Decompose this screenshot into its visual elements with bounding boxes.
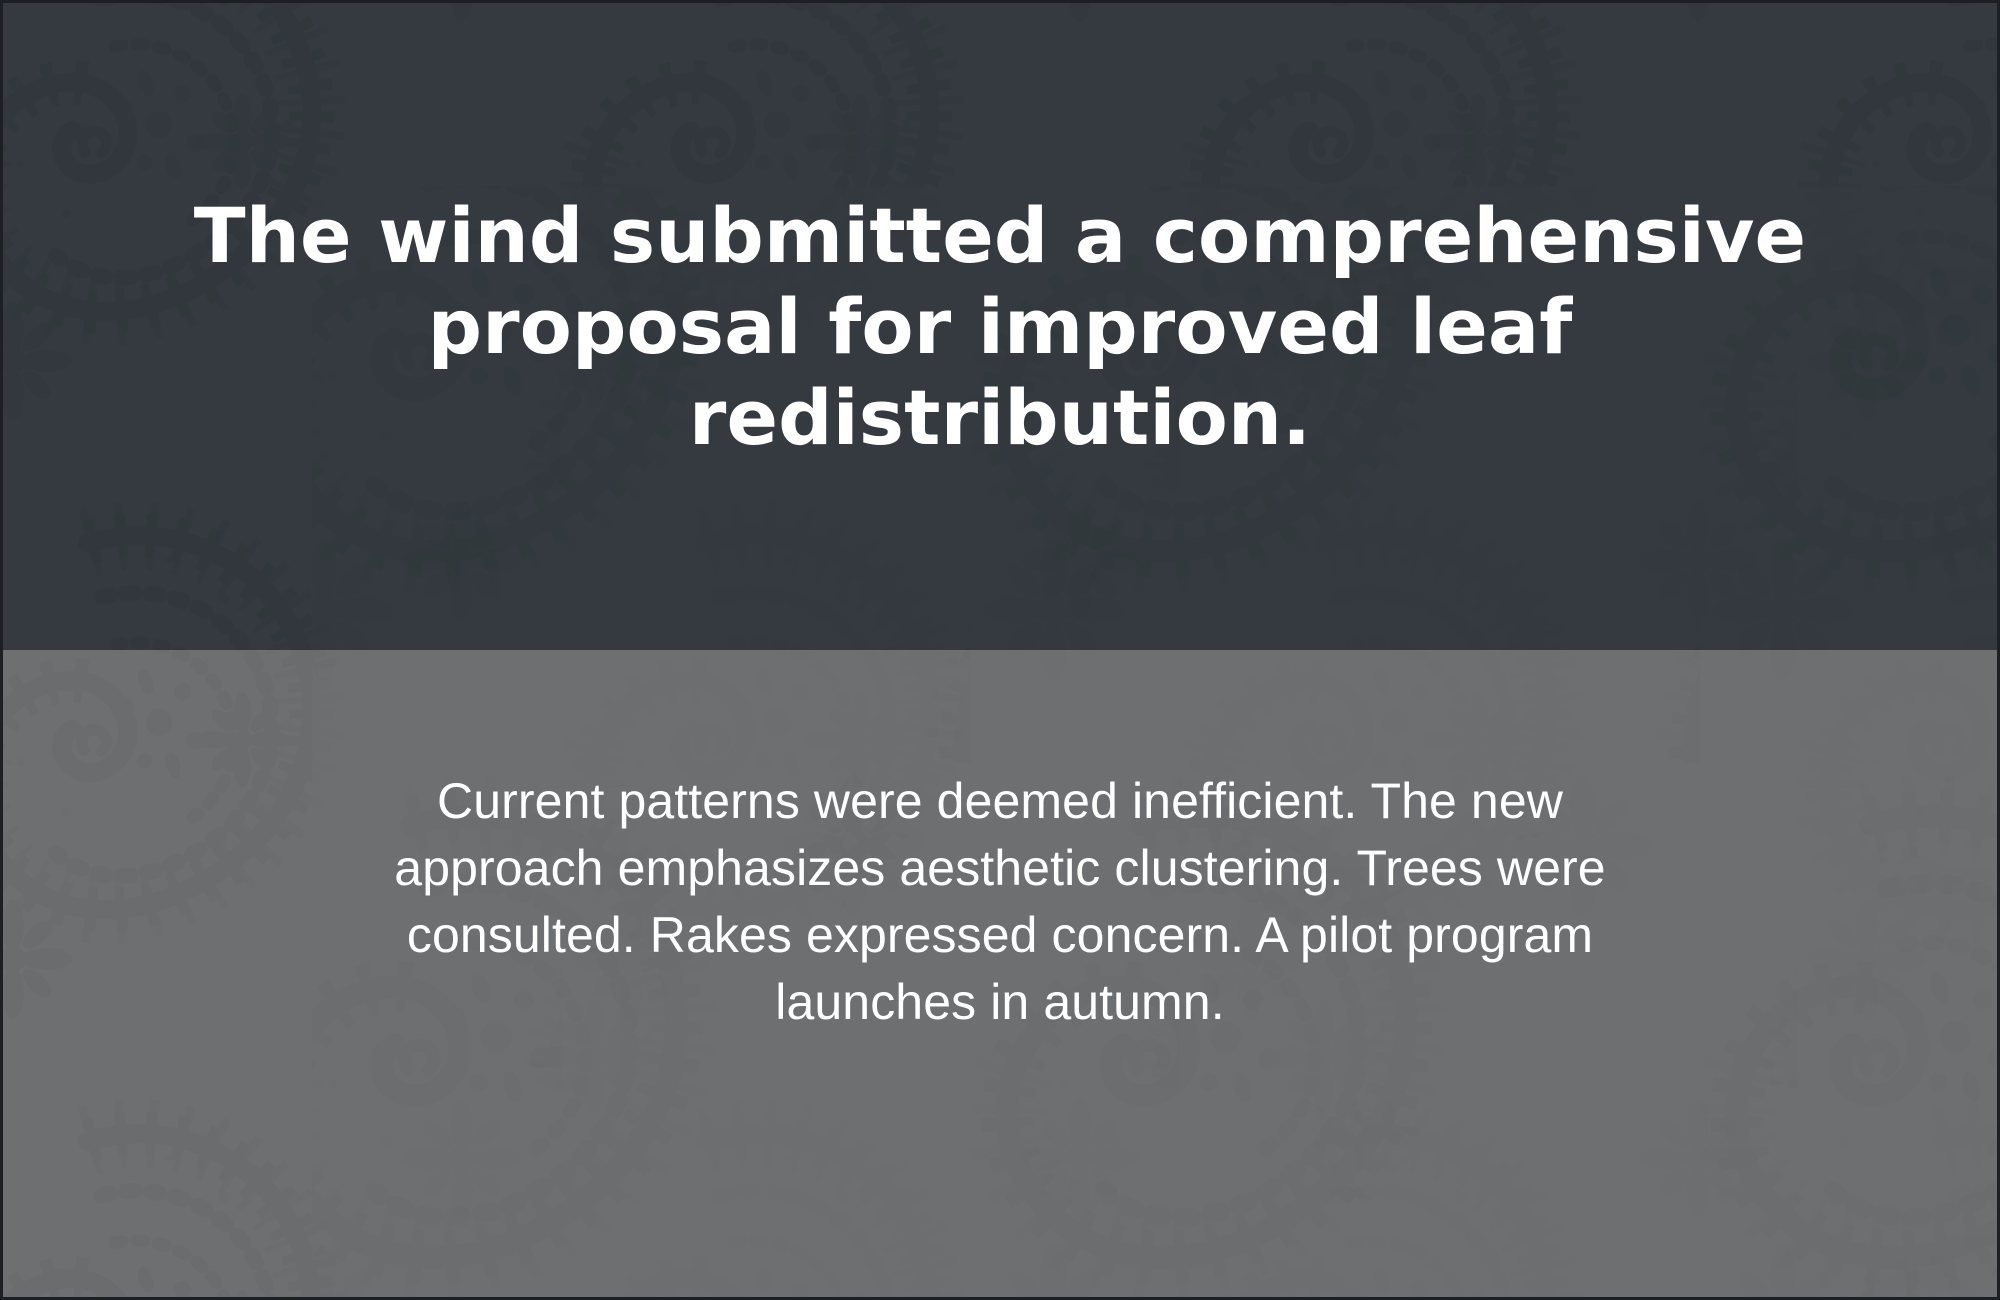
slide: The wind submitted a comprehensive propo… [0, 0, 2000, 1300]
slide-title: The wind submitted a comprehensive propo… [173, 190, 1827, 464]
slide-content: The wind submitted a comprehensive propo… [3, 3, 1997, 1297]
title-area: The wind submitted a comprehensive propo… [3, 3, 1997, 650]
slide-body-text: Current patterns were deemed inefficient… [383, 768, 1617, 1036]
body-area: Current patterns were deemed inefficient… [3, 650, 1997, 1297]
